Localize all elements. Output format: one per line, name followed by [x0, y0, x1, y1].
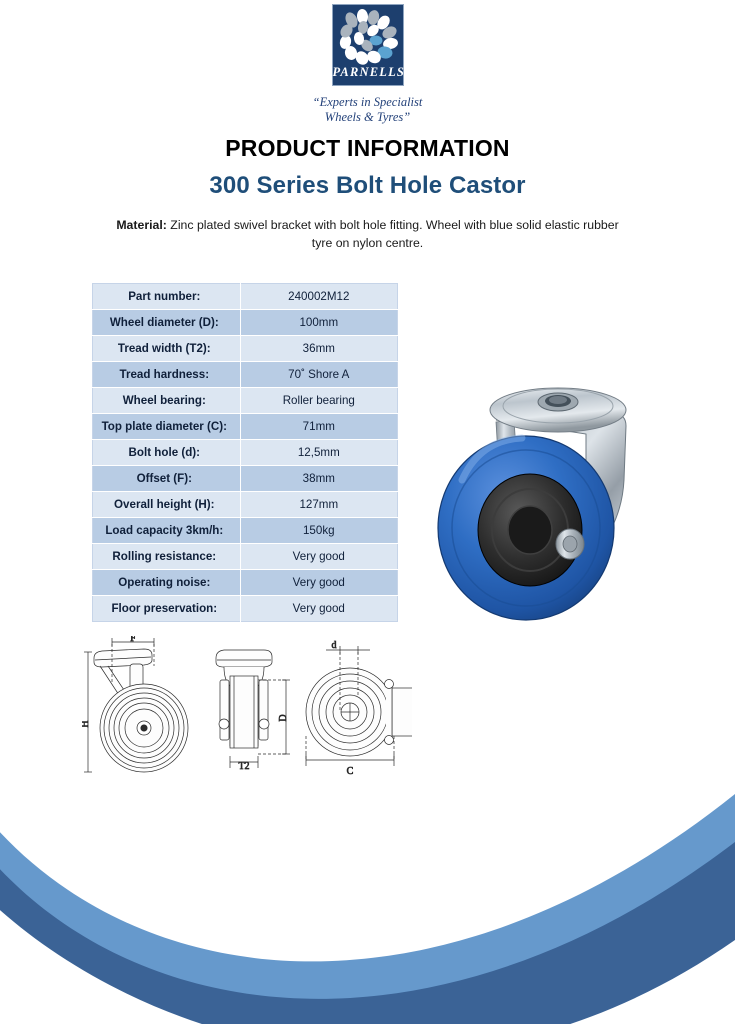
product-title: 300 Series Bolt Hole Castor: [0, 172, 735, 200]
material-label: Material:: [116, 218, 167, 232]
tagline-line-1: “Experts in Specialist: [0, 95, 735, 110]
spec-row: Tread hardness:70˚ Shore A: [93, 362, 398, 388]
spec-row: Wheel bearing:Roller bearing: [93, 388, 398, 414]
material-description: Material: Zinc plated swivel bracket wit…: [110, 216, 625, 252]
specification-table: Part number:240002M12Wheel diameter (D):…: [92, 283, 398, 622]
spec-row: Rolling resistance:Very good: [93, 544, 398, 570]
spec-row: Floor preservation:Very good: [93, 596, 398, 622]
spec-label: Bolt hole (d):: [93, 440, 241, 466]
page-title: PRODUCT INFORMATION: [0, 135, 735, 162]
spec-label: Tread width (T2):: [93, 336, 241, 362]
parnells-logo-icon: PARNELLS: [332, 4, 404, 86]
spec-value: 150kg: [240, 518, 397, 544]
spec-value: 240002M12: [240, 284, 397, 310]
spec-value: 127mm: [240, 492, 397, 518]
spec-label: Wheel bearing:: [93, 388, 241, 414]
brand-header: PARNELLS “Experts in Specialist Wheels &…: [0, 4, 735, 124]
spec-label: Offset (F):: [93, 466, 241, 492]
spec-label: Load capacity 3km/h:: [93, 518, 241, 544]
spec-row: Operating noise:Very good: [93, 570, 398, 596]
spec-label: Rolling resistance:: [93, 544, 241, 570]
spec-value: Roller bearing: [240, 388, 397, 414]
spec-value: 36mm: [240, 336, 397, 362]
dim-label-d: d: [332, 640, 337, 651]
spec-label: Overall height (H):: [93, 492, 241, 518]
spec-label: Operating noise:: [93, 570, 241, 596]
spec-row: Offset (F):38mm: [93, 466, 398, 492]
brand-tagline: “Experts in Specialist Wheels & Tyres”: [0, 95, 735, 124]
spec-value: 38mm: [240, 466, 397, 492]
spec-label: Wheel diameter (D):: [93, 310, 241, 336]
decorative-swoosh: [0, 690, 735, 1024]
spec-label: Part number:: [93, 284, 241, 310]
product-photo: [418, 368, 654, 634]
spec-row: Wheel diameter (D):100mm: [93, 310, 398, 336]
logo-wordmark: PARNELLS: [333, 65, 403, 80]
material-text: Zinc plated swivel bracket with bolt hol…: [167, 218, 619, 250]
spec-row: Load capacity 3km/h:150kg: [93, 518, 398, 544]
spec-value: Very good: [240, 544, 397, 570]
spec-row: Tread width (T2):36mm: [93, 336, 398, 362]
spec-value: 12,5mm: [240, 440, 397, 466]
product-information-page: PARNELLS “Experts in Specialist Wheels &…: [0, 0, 735, 1024]
spec-row: Overall height (H):127mm: [93, 492, 398, 518]
spec-label: Top plate diameter (C):: [93, 414, 241, 440]
spec-value: Very good: [240, 570, 397, 596]
spec-value: Very good: [240, 596, 397, 622]
spec-row: Bolt hole (d):12,5mm: [93, 440, 398, 466]
spec-value: 71mm: [240, 414, 397, 440]
spec-value: 70˚ Shore A: [240, 362, 397, 388]
spec-value: 100mm: [240, 310, 397, 336]
dim-label-F: F: [130, 636, 136, 644]
spec-label: Tread hardness:: [93, 362, 241, 388]
spec-row: Top plate diameter (C):71mm: [93, 414, 398, 440]
spec-row: Part number:240002M12: [93, 284, 398, 310]
spec-label: Floor preservation:: [93, 596, 241, 622]
tagline-line-2: Wheels & Tyres”: [0, 110, 735, 125]
